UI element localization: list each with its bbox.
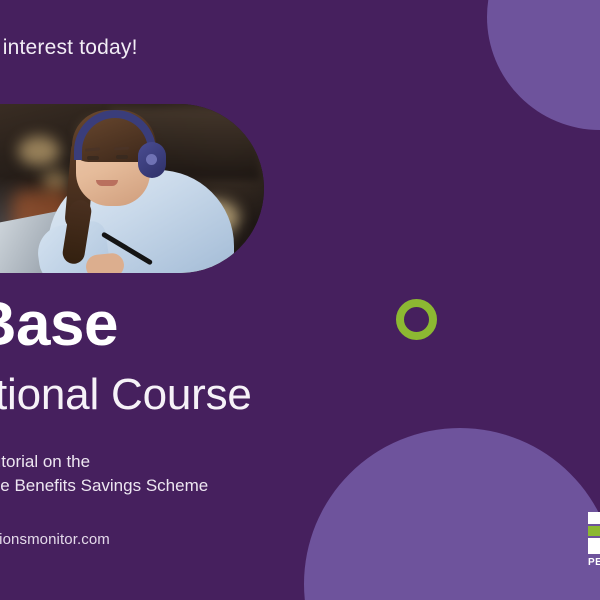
description-line-1: An briefing and tutorial on the xyxy=(0,450,208,474)
description: An briefing and tutorial on the Pension … xyxy=(0,450,208,498)
photo-bokeh-light xyxy=(18,136,60,166)
description-line-2: Pension of Service Benefits Savings Sche… xyxy=(0,474,208,498)
slide-canvas: Thank you for your interest today! PSBas… xyxy=(0,0,600,600)
greeting-line: Thank you for your interest today! xyxy=(0,36,138,60)
pensions-monitor-logo: PENSIONS xyxy=(588,512,600,570)
logo-bar-white xyxy=(588,538,600,554)
page-title: PSBase xyxy=(0,294,118,356)
logo-wordmark: PENSIONS xyxy=(588,557,600,568)
photo-person-smile xyxy=(96,180,118,186)
photo-headphones-earcup xyxy=(138,142,166,178)
website-url[interactable]: www.pensionsmonitor.com xyxy=(0,531,110,548)
decorative-circle-bottom-right xyxy=(304,428,600,600)
page-subtitle: Foundational Course xyxy=(0,372,252,418)
page-title-suffix: Base xyxy=(0,290,118,359)
decorative-circle-top-right xyxy=(487,0,600,130)
photo-bokeh-light xyxy=(42,170,68,192)
logo-bar-green xyxy=(588,526,600,536)
logo-bar-white xyxy=(588,512,600,524)
green-ring-accent xyxy=(396,299,437,340)
photo-bubble xyxy=(0,104,264,273)
photo-woman-with-headphones-at-laptop xyxy=(0,104,264,273)
